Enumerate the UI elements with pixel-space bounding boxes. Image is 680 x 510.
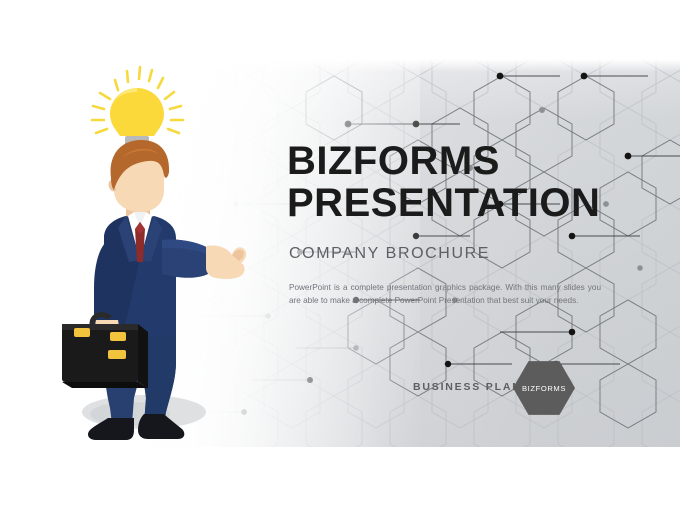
lightbulb-glass xyxy=(110,88,164,136)
slide-title: BIZFORMS PRESENTATION xyxy=(287,140,657,224)
briefcase-clasp-right xyxy=(110,332,126,341)
presentation-slide: BIZFORMS PRESENTATION COMPANY BROCHURE P… xyxy=(0,0,680,447)
briefcase-clasp-left xyxy=(74,328,90,337)
slide-subtitle: COMPANY BROCHURE xyxy=(289,245,490,263)
slide-body-text: PowerPoint is a complete presentation gr… xyxy=(289,281,601,307)
title-line-2: PRESENTATION xyxy=(287,182,657,224)
business-plan-label: BUSINESS PLAN xyxy=(413,381,522,393)
businessman-illustration xyxy=(52,62,252,440)
briefcase xyxy=(62,315,148,388)
title-line-1: BIZFORMS xyxy=(287,140,657,182)
bizforms-badge-label: BIZFORMS xyxy=(513,360,575,416)
bizforms-hex-badge: BIZFORMS xyxy=(513,360,575,416)
